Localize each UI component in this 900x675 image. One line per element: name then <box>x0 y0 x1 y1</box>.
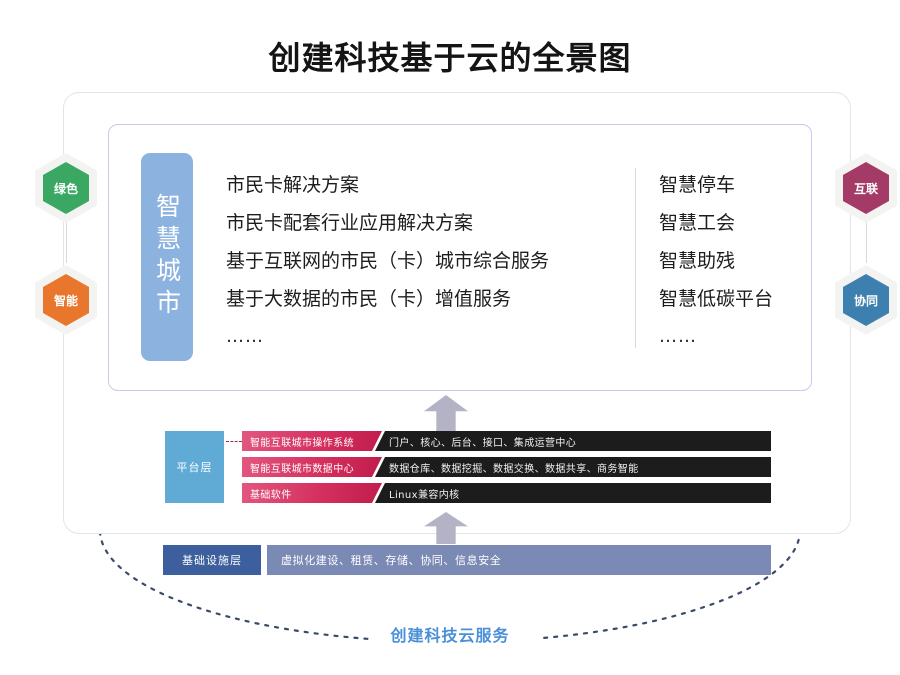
platform-row-detail-label: 门户、核心、后台、接口、集成运营中心 <box>389 434 576 449</box>
infrastructure-layer-label: 基础设施层 <box>182 552 242 568</box>
platform-row: 智能互联城市操作系统 门户、核心、后台、接口、集成运营中心 <box>242 431 771 451</box>
list-item: 基于互联网的市民（卡）城市综合服务 <box>226 242 626 280</box>
list-item: 基于大数据的市民（卡）增值服务 <box>226 280 626 318</box>
infrastructure-layer-tag: 基础设施层 <box>163 545 261 575</box>
infrastructure-layer-detail-label: 虚拟化建设、租赁、存储、协同、信息安全 <box>281 552 501 568</box>
list-item-ellipsis: …… <box>659 318 809 356</box>
list-item: 智慧助残 <box>659 242 809 280</box>
platform-layer-label: 平台层 <box>177 459 213 475</box>
platform-row-detail-label: Linux兼容内核 <box>389 486 460 501</box>
badge-green: 绿色 <box>35 153 97 223</box>
platform-row-tag: 智能互联城市操作系统 <box>242 431 382 451</box>
platform-row-tag: 基础软件 <box>242 483 382 503</box>
platform-row-detail-label: 数据仓库、数据挖掘、数据交换、数据共享、商务智能 <box>389 460 639 475</box>
badge-label: 协同 <box>854 292 878 309</box>
platform-row-detail: Linux兼容内核 <box>375 483 771 503</box>
list-item: 市民卡解决方案 <box>226 166 626 204</box>
badge-magenta: 互联 <box>835 153 897 223</box>
smart-city-vertical-label: 智慧城市 <box>141 153 193 361</box>
badge-label: 互联 <box>854 180 878 197</box>
badge-label: 智能 <box>54 292 78 309</box>
list-item: 智慧低碳平台 <box>659 280 809 318</box>
badge-orange: 智能 <box>35 265 97 335</box>
badge-blue: 协同 <box>835 265 897 335</box>
diagram-canvas: 创建科技基于云的全景图 智慧城市 市民卡解决方案 市民卡配套行业应用解决方案 基… <box>0 0 900 675</box>
list-item: 智慧工会 <box>659 204 809 242</box>
platform-row: 基础软件 Linux兼容内核 <box>242 483 771 503</box>
page-title: 创建科技基于云的全景图 <box>0 33 900 79</box>
smart-city-column-right: 智慧停车 智慧工会 智慧助残 智慧低碳平台 …… <box>659 166 809 356</box>
platform-row-tag-label: 基础软件 <box>250 486 292 501</box>
infrastructure-layer-detail: 虚拟化建设、租赁、存储、协同、信息安全 <box>267 545 771 575</box>
smart-city-vertical-label-text: 智慧城市 <box>155 193 180 321</box>
platform-row-detail: 门户、核心、后台、接口、集成运营中心 <box>375 431 771 451</box>
platform-layer-box: 平台层 <box>165 431 224 503</box>
platform-row-tag-label: 智能互联城市操作系统 <box>250 434 354 449</box>
list-item-ellipsis: …… <box>226 318 626 356</box>
list-item: 智慧停车 <box>659 166 809 204</box>
badge-label: 绿色 <box>54 180 78 197</box>
platform-row-tag: 智能互联城市数据中心 <box>242 457 382 477</box>
column-divider <box>635 168 636 348</box>
smart-city-column-left: 市民卡解决方案 市民卡配套行业应用解决方案 基于互联网的市民（卡）城市综合服务 … <box>226 166 626 356</box>
cloud-service-caption: 创建科技云服务 <box>0 622 900 646</box>
platform-row-tag-label: 智能互联城市数据中心 <box>250 460 354 475</box>
platform-row: 智能互联城市数据中心 数据仓库、数据挖掘、数据交换、数据共享、商务智能 <box>242 457 771 477</box>
platform-row-detail: 数据仓库、数据挖掘、数据交换、数据共享、商务智能 <box>375 457 771 477</box>
list-item: 市民卡配套行业应用解决方案 <box>226 204 626 242</box>
platform-connector <box>226 441 242 442</box>
